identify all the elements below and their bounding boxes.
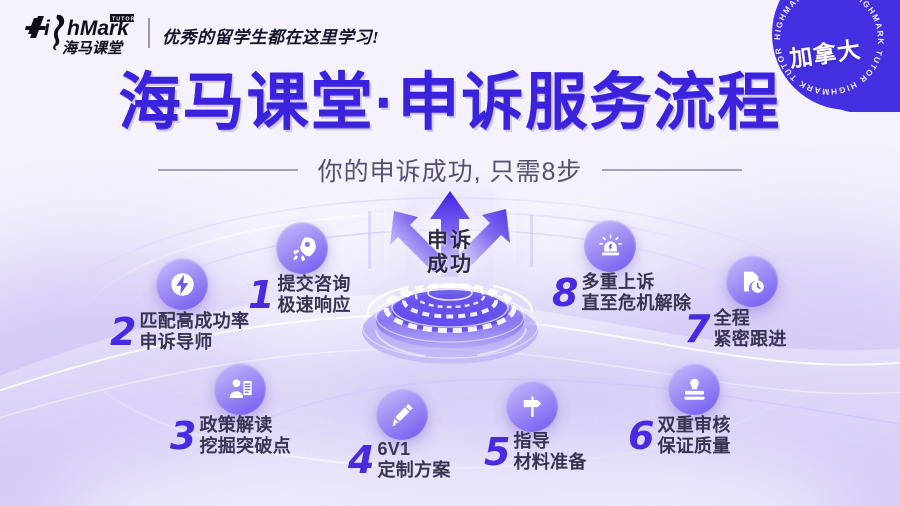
step-4-body: 4 6V1 定制方案 xyxy=(348,439,451,481)
step-3-number: 3 xyxy=(170,419,196,454)
step-2-body: 2 匹配高成功率 申诉导师 xyxy=(110,311,249,353)
step-1-number: 1 xyxy=(248,278,274,313)
hub-label-line1: 申诉 xyxy=(350,229,550,253)
step-6-body: 6 双重审核 保证质量 xyxy=(628,415,731,457)
step-8-body: 8 多重上诉 直至危机解除 xyxy=(552,272,691,314)
step-1-line1: 提交咨询 xyxy=(277,274,350,295)
step-7-number: 7 xyxy=(684,312,710,347)
infographic-canvas: i hMark TUTOR 海马课堂 优秀的留学生都在这里学习! xyxy=(0,0,900,506)
step-3-body: 3 政策解读 挖掘突破点 xyxy=(170,415,291,457)
subtitle-rule-right xyxy=(602,169,742,171)
step-2-line1: 匹配高成功率 xyxy=(139,311,249,332)
document-clock-icon xyxy=(726,255,778,307)
subtitle-row: 你的申诉成功, 只需8步 xyxy=(0,152,900,188)
hub-graphic xyxy=(350,185,550,370)
stamp-icon xyxy=(668,363,720,415)
center-hub: 申诉 成功 xyxy=(350,185,550,370)
seahorse-icon: i hMark TUTOR 海马课堂 xyxy=(24,8,144,58)
step-5-number: 5 xyxy=(484,435,510,470)
step-8-line1: 多重上诉 xyxy=(581,272,691,293)
step-7-body: 7 全程 紧密跟进 xyxy=(684,308,787,350)
step-5-line1: 指导 xyxy=(513,431,586,452)
brand-logo[interactable]: i hMark TUTOR 海马课堂 xyxy=(24,8,144,58)
rocket-icon xyxy=(276,222,328,274)
hub-label-line2: 成功 xyxy=(350,253,550,277)
step-6-line1: 双重审核 xyxy=(657,415,730,436)
step-4-line1: 6V1 xyxy=(377,439,450,460)
step-4-line2: 定制方案 xyxy=(377,460,450,481)
subtitle-rule-left xyxy=(158,169,298,171)
header: i hMark TUTOR 海马课堂 优秀的留学生都在这里学习! xyxy=(0,0,900,68)
header-tagline: 优秀的留学生都在这里学习! xyxy=(162,23,379,48)
svg-text:海马课堂: 海马课堂 xyxy=(62,40,124,57)
step-5-line2: 材料准备 xyxy=(513,452,586,473)
step-5-body: 5 指导 材料准备 xyxy=(484,431,587,473)
step-2-number: 2 xyxy=(110,315,136,350)
step-1-line2: 极速响应 xyxy=(277,295,350,316)
svg-text:TUTOR: TUTOR xyxy=(112,17,135,23)
step-1-body: 1 提交咨询 极速响应 xyxy=(248,274,351,316)
lightning-icon xyxy=(156,258,208,310)
step-7-line1: 全程 xyxy=(713,308,786,329)
svg-text:i: i xyxy=(44,17,51,40)
step-7-line2: 紧密跟进 xyxy=(713,329,786,350)
header-divider xyxy=(148,18,150,48)
pencil-icon xyxy=(376,388,428,440)
step-3-line2: 挖掘突破点 xyxy=(199,436,291,457)
step-3-line1: 政策解读 xyxy=(199,415,291,436)
page-subtitle: 你的申诉成功, 只需8步 xyxy=(318,152,583,188)
step-8-number: 8 xyxy=(552,276,578,311)
step-8-line2: 直至危机解除 xyxy=(581,293,691,314)
page-title: 海马课堂·申诉服务流程 xyxy=(0,72,900,134)
step-6-number: 6 xyxy=(628,419,654,454)
step-6-line2: 保证质量 xyxy=(657,436,730,457)
step-2-line2: 申诉导师 xyxy=(139,332,249,353)
alarm-siren-icon xyxy=(584,220,636,272)
step-4-number: 4 xyxy=(348,443,374,478)
signpost-icon xyxy=(506,380,558,432)
hub-label: 申诉 成功 xyxy=(350,229,550,276)
person-document-icon xyxy=(214,363,266,415)
